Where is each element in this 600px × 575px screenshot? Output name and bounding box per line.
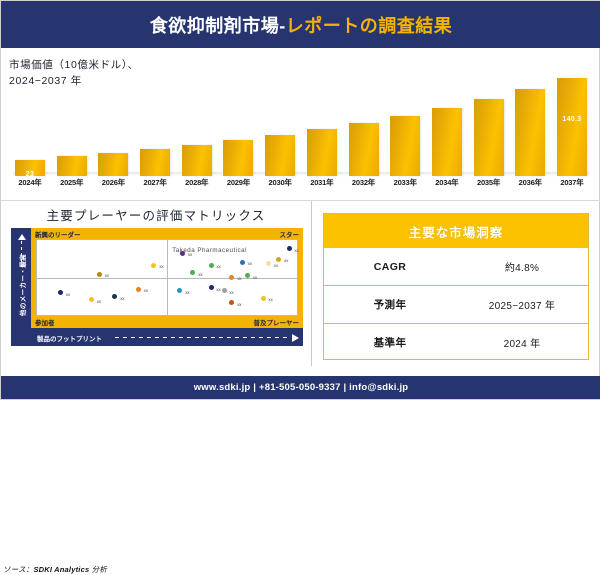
matrix-data-point [229, 300, 234, 305]
matrix-data-point [229, 275, 234, 280]
chart-bar [432, 108, 462, 176]
matrix-data-point [276, 257, 281, 262]
matrix-data-point [97, 272, 102, 277]
section-divider-vertical [311, 201, 312, 366]
matrix-quadrant-top-labels: 新興のリーダー スター [31, 228, 303, 239]
matrix-horizontal-midline [37, 278, 297, 279]
player-matrix-panel: 主要プレーヤーの評価マトリックス 新興のリーダー スター Takeda Phar… [3, 202, 309, 372]
chart-x-tick-label: 2033年 [390, 177, 420, 195]
chart-bar: 23 [15, 160, 45, 176]
chart-x-tick-label: 2034年 [432, 177, 462, 195]
matrix-data-point-label: xx [120, 296, 124, 301]
insights-rows: CAGR約4.8%予測年2025−2037 年基準年2024 年 [324, 248, 588, 361]
matrix-x-axis: 製品のフットプリント [31, 328, 303, 346]
matrix-y-axis-label: 他のメーカー・最高 [17, 238, 27, 332]
matrix-data-point-label: xx [237, 276, 241, 281]
insights-row: 予測年2025−2037 年 [324, 285, 588, 323]
matrix-data-point-label: xx [248, 261, 252, 266]
chart-bar-slot [307, 67, 337, 176]
chart-bar-slot [474, 67, 504, 176]
matrix-gold-frame: 新興のリーダー スター Takeda Pharmaceutical xxxxxx… [31, 228, 303, 328]
chart-x-tick-label: 2035年 [474, 177, 504, 195]
matrix-data-point-label: xx [253, 275, 257, 280]
page-title-accent: レポートの調査結果 [286, 16, 453, 36]
page-title: 食欲抑制剤市場-レポートの調査結果 [150, 12, 453, 38]
matrix-data-point [287, 246, 292, 251]
matrix-data-point [209, 263, 214, 268]
chart-x-tick-label: 2037年 [557, 177, 587, 195]
chart-bar: 140.3 [557, 78, 587, 176]
matrix-data-point [151, 263, 156, 268]
arrow-right-icon [292, 334, 299, 342]
insights-row-key: 基準年 [324, 335, 456, 350]
matrix-data-point-label: xx [97, 299, 101, 304]
matrix-data-point [209, 285, 214, 290]
matrix-scatter-plot: Takeda Pharmaceutical xxxxxxxxxxxxxxxxxx… [36, 239, 298, 316]
chart-bar-slot: 140.3 [557, 67, 587, 176]
chart-bar [223, 140, 253, 176]
chart-bar-slot [98, 67, 128, 176]
insights-row-key: 予測年 [324, 297, 456, 312]
matrix-data-point-label: xx [216, 287, 220, 292]
chart-x-tick-label: 2027年 [140, 177, 170, 195]
matrix-data-point-label: xx [66, 292, 70, 297]
matrix-axis-corner [11, 328, 31, 346]
matrix-data-point-label: xx [216, 264, 220, 269]
matrix-data-point [266, 261, 271, 266]
matrix-data-point [261, 296, 266, 301]
quadrant-label-star: スター [280, 229, 300, 239]
matrix-data-point [89, 297, 94, 302]
market-value-bar-chart: 23140.3 2024年2025年2026年2027年2028年2029年20… [5, 67, 597, 197]
chart-bar-slot: 23 [15, 67, 45, 176]
chart-x-tick-label: 2031年 [307, 177, 337, 195]
matrix-x-axis-label: 製品のフットプリント [37, 333, 102, 343]
quadrant-label-emerging-leader: 新興のリーダー [35, 229, 81, 239]
insights-row-value: 約4.8% [456, 259, 588, 274]
insights-row-value: 2025−2037 年 [456, 297, 588, 312]
chart-x-tick-label: 2025年 [57, 177, 87, 195]
chart-bar-slot [265, 67, 295, 176]
matrix-data-point-label: xx [159, 264, 163, 269]
matrix-data-point-label: xx [237, 302, 241, 307]
matrix-data-point-label: xx [188, 252, 192, 257]
chart-bar [57, 156, 87, 176]
chart-bar [265, 135, 295, 176]
matrix-quadrant-bottom-labels: 参加者 普及プレーヤー [31, 316, 303, 328]
chart-bar [390, 116, 420, 176]
source-prefix: ソース： [3, 565, 33, 574]
chart-x-tick-label: 2032年 [349, 177, 379, 195]
chart-bar-slot [223, 67, 253, 176]
chart-bar-value-label: 140.3 [557, 116, 587, 123]
matrix-data-point [136, 287, 141, 292]
quadrant-label-pervasive-player: 普及プレーヤー [254, 317, 300, 327]
matrix-data-point-label: xx [198, 272, 202, 277]
matrix-data-point [240, 260, 245, 265]
chart-bar-slot [432, 67, 462, 176]
chart-x-tick-label: 2028年 [182, 177, 212, 195]
footer-contact-text: www.sdki.jp | +81-505-050-9337 | info@sd… [194, 382, 409, 393]
chart-x-tick-label: 2026年 [98, 177, 128, 195]
chart-bars: 23140.3 [5, 67, 597, 176]
matrix-data-point-label: xx [294, 248, 298, 253]
insights-row-key: CAGR [324, 261, 456, 273]
page-root: 食欲抑制剤市場-レポートの調査結果 市場価値（10億米ドル）、 2024−203… [0, 0, 600, 400]
insights-table-header: 主要な市場洞察 [324, 214, 588, 248]
source-brand: SDKI Analytics [33, 565, 89, 574]
chart-x-tick-label: 2030年 [265, 177, 295, 195]
matrix-data-point-label: xx [284, 258, 288, 263]
matrix-data-point-label: xx [105, 273, 109, 278]
insights-row-value: 2024 年 [456, 335, 588, 350]
matrix-data-point-label: xx [229, 290, 233, 295]
page-header: 食欲抑制剤市場-レポートの調査結果 [1, 1, 600, 48]
matrix-box: 新興のリーダー スター Takeda Pharmaceutical xxxxxx… [11, 228, 303, 346]
chart-bar [182, 145, 212, 176]
source-note: ソース：SDKI Analytics 分析 [3, 564, 107, 575]
key-market-insights-table: 主要な市場洞察 CAGR約4.8%予測年2025−2037 年基準年2024 年 [323, 213, 589, 360]
chart-bar [515, 89, 545, 176]
insights-row: CAGR約4.8% [324, 248, 588, 285]
chart-x-tick-label: 2024年 [15, 177, 45, 195]
page-footer: www.sdki.jp | +81-505-050-9337 | info@sd… [1, 376, 600, 399]
quadrant-label-participant: 参加者 [35, 317, 55, 327]
matrix-data-point-label: xx [274, 263, 278, 268]
chart-bar-slot [57, 67, 87, 176]
chart-bar-slot [349, 67, 379, 176]
chart-bar-slot [390, 67, 420, 176]
chart-x-tick-label: 2029年 [223, 177, 253, 195]
matrix-data-point-label: xx [185, 290, 189, 295]
chart-bar [349, 123, 379, 176]
matrix-data-point [58, 290, 63, 295]
matrix-data-point [112, 294, 117, 299]
insights-row: 基準年2024 年 [324, 323, 588, 361]
chart-x-axis: 2024年2025年2026年2027年2028年2029年2030年2031年… [5, 177, 597, 195]
matrix-data-point-label: xx [268, 297, 272, 302]
matrix-data-point [180, 251, 185, 256]
chart-bar [98, 153, 128, 176]
insights-title: 主要な市場洞察 [409, 222, 504, 241]
matrix-data-point [222, 288, 227, 293]
source-suffix: 分析 [92, 565, 107, 574]
chart-bar [474, 99, 504, 176]
chart-bar [140, 149, 170, 176]
page-title-primary: 食欲抑制剤市場- [150, 16, 286, 36]
matrix-data-point [245, 273, 250, 278]
matrix-title: 主要プレーヤーの評価マトリックス [3, 202, 309, 228]
chart-bar-slot [182, 67, 212, 176]
matrix-x-axis-dash [115, 337, 289, 338]
chart-bar-slot [515, 67, 545, 176]
matrix-data-point [177, 288, 182, 293]
chart-bar [307, 129, 337, 176]
chart-x-tick-label: 2036年 [515, 177, 545, 195]
chart-bar-slot [140, 67, 170, 176]
section-divider-horizontal [1, 200, 600, 201]
chart-plot-area: 23140.3 [5, 67, 597, 176]
matrix-data-point-label: xx [144, 288, 148, 293]
matrix-data-point [190, 270, 195, 275]
